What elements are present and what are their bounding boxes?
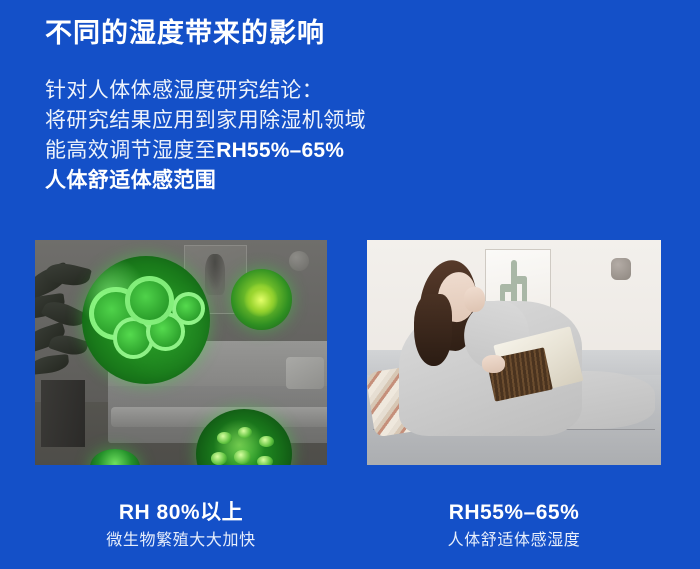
microbe-cluster-large (82, 256, 210, 384)
sofa-cushion (286, 357, 324, 389)
intro-line-3-prefix: 能高效调节湿度至 (45, 139, 216, 162)
microbe-dot (234, 450, 251, 464)
cactus-stem (500, 284, 514, 292)
woman-hand-on-book (482, 355, 506, 373)
microbe-dot (259, 436, 273, 447)
woman-hair-strand (414, 294, 452, 366)
caption-high-humidity: RH 80%以上 微生物繁殖大大加快 (35, 500, 327, 552)
intro-line-3: 能高效调节湿度至RH55%–65% (45, 136, 366, 166)
microbe-dot (211, 452, 227, 465)
microbe-cluster-top-right (231, 269, 292, 330)
leaf (35, 354, 70, 375)
woman-hand-at-head (464, 287, 485, 312)
intro-line-4: 人体舒适体感范围 (45, 166, 366, 196)
caption-subtitle: 人体舒适体感湿度 (367, 531, 661, 552)
microbe-bud (172, 292, 206, 326)
caption-subtitle: 微生物繁殖大大加快 (35, 531, 327, 552)
intro-line-1: 针对人体体感湿度研究结论： (45, 76, 366, 106)
wall-speaker (611, 258, 631, 280)
intro-line-3-highlight: RH55%–65% (216, 139, 344, 162)
photo-comfort-humidity (367, 240, 661, 465)
photo-high-humidity (35, 240, 327, 465)
photo-comfort-humidity-scene (367, 240, 661, 465)
microbe-dot (257, 456, 272, 465)
photo-high-humidity-scene (35, 240, 327, 465)
intro-paragraph: 针对人体体感湿度研究结论： 将研究结果应用到家用除湿机领域 能高效调节湿度至RH… (45, 76, 366, 196)
caption-title: RH55%–65% (367, 500, 661, 526)
caption-title: RH 80%以上 (35, 500, 327, 526)
intro-line-2: 将研究结果应用到家用除湿机领域 (45, 106, 366, 136)
page-title: 不同的湿度带来的影响 (45, 17, 325, 50)
caption-comfort-humidity: RH55%–65% 人体舒适体感湿度 (367, 500, 661, 552)
infographic-page: 不同的湿度带来的影响 针对人体体感湿度研究结论： 将研究结果应用到家用除湿机领域… (0, 0, 700, 569)
cactus-stem (514, 276, 527, 284)
microbe-dot (217, 432, 232, 444)
microbe-dot (238, 427, 252, 438)
